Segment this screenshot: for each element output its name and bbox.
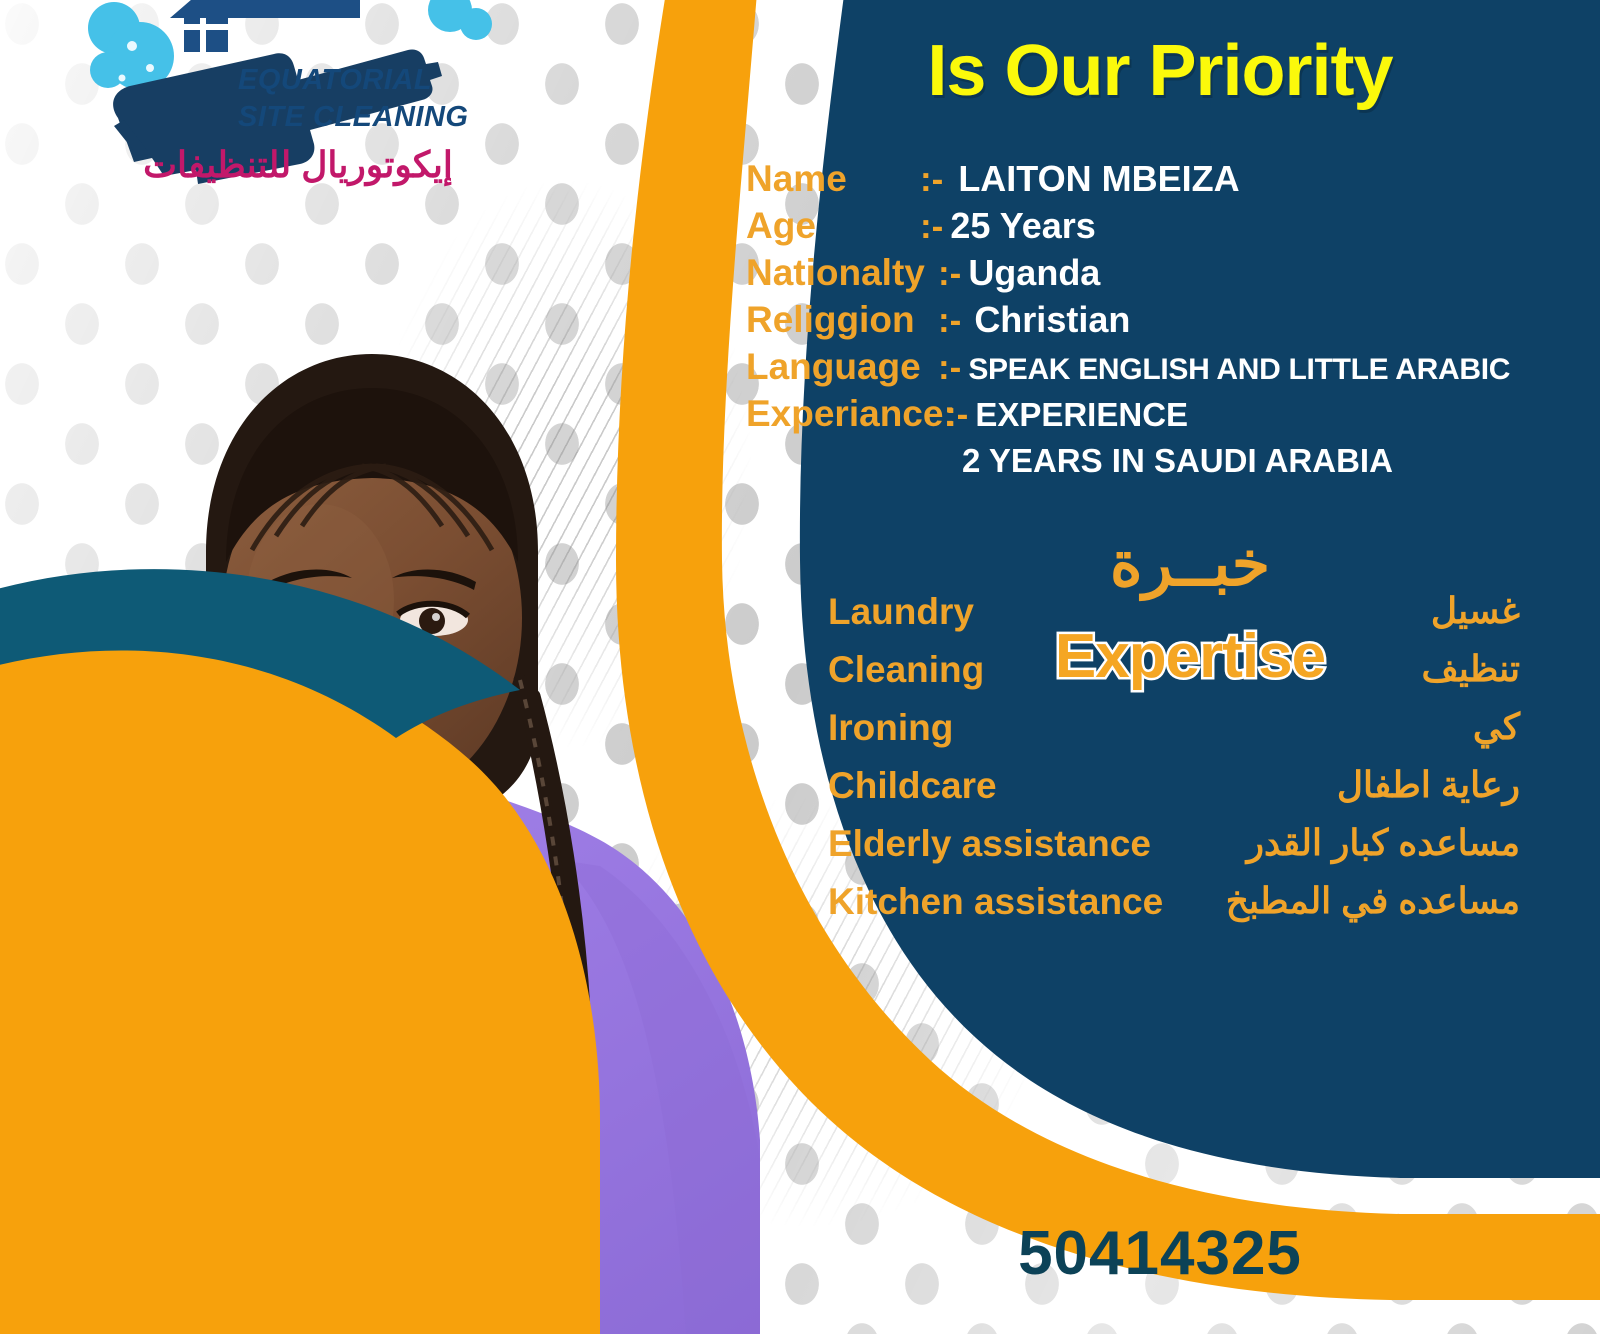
separator-language: :- [938,350,968,385]
profile-row-name: Name :- LAITON MBEIZA [746,160,1546,197]
orange-blob-left [0,634,600,1334]
separator-religion: :- [938,303,968,338]
value-nationality: Uganda [968,255,1100,291]
value-language: SPEAK ENGLISH AND LITTLE ARABIC [968,355,1510,385]
label-name: Name [746,160,920,197]
profile-row-nationality: Nationalty :- Uganda [746,254,1546,291]
skill-item-arabic: تنظيف [1000,640,1520,698]
skill-item-arabic: مساعده كبار القدر [1000,814,1520,872]
label-religion: Religgion [746,301,938,338]
logo-name-line-1: EQUATORIAL [238,62,508,99]
value-experience: EXPERIENCE [975,398,1188,431]
profile-row-language: Language :- SPEAK ENGLISH AND LITTLE ARA… [746,348,1546,385]
profile-details: Name :- LAITON MBEIZA Age :- 25 Years Na… [746,160,1546,480]
separator-age: :- [920,209,950,244]
poster: EQUATORIAL SITE CLEANING إيكوتوريال للتن… [0,0,1600,1334]
value-religion: Christian [968,302,1130,338]
skill-item-arabic: رعاية اطفال [1000,756,1520,814]
company-logo: EQUATORIAL SITE CLEANING إيكوتوريال للتن… [78,0,498,206]
skill-item-arabic: غسيل [1000,582,1520,640]
skill-item-arabic: كي [1000,698,1520,756]
label-age: Age [746,207,920,244]
value-age: 25 Years [950,208,1096,244]
separator-nationality: :- [938,256,968,291]
profile-row-experience: Experiance: :- EXPERIENCE [746,395,1546,432]
profile-row-religion: Religgion :- Christian [746,301,1546,338]
label-experience: Experiance: [746,395,951,432]
logo-name-line-2: SITE CLEANING [238,99,508,136]
contact-phone-number[interactable]: 50414325 [900,1218,1420,1289]
page-title: Is Our Priority [790,30,1530,112]
skill-item-arabic: مساعده في المطبخ [1000,872,1520,930]
logo-wordmark: EQUATORIAL SITE CLEANING [238,62,508,136]
separator-name: :- [920,162,950,197]
value-name: LAITON MBEIZA [950,161,1239,197]
label-nationality: Nationalty [746,254,938,291]
logo-name-arabic: إيكوتوريال للتنظيفات [88,144,508,186]
skills-list-arabic: غسيل تنظيف كي رعاية اطفال مساعده كبار ال… [1000,582,1520,930]
experience-detail-line: 2 YEARS IN SAUDI ARABIA [962,442,1546,480]
label-language: Language [746,348,938,385]
separator-experience: :- [945,397,975,432]
profile-row-age: Age :- 25 Years [746,207,1546,244]
